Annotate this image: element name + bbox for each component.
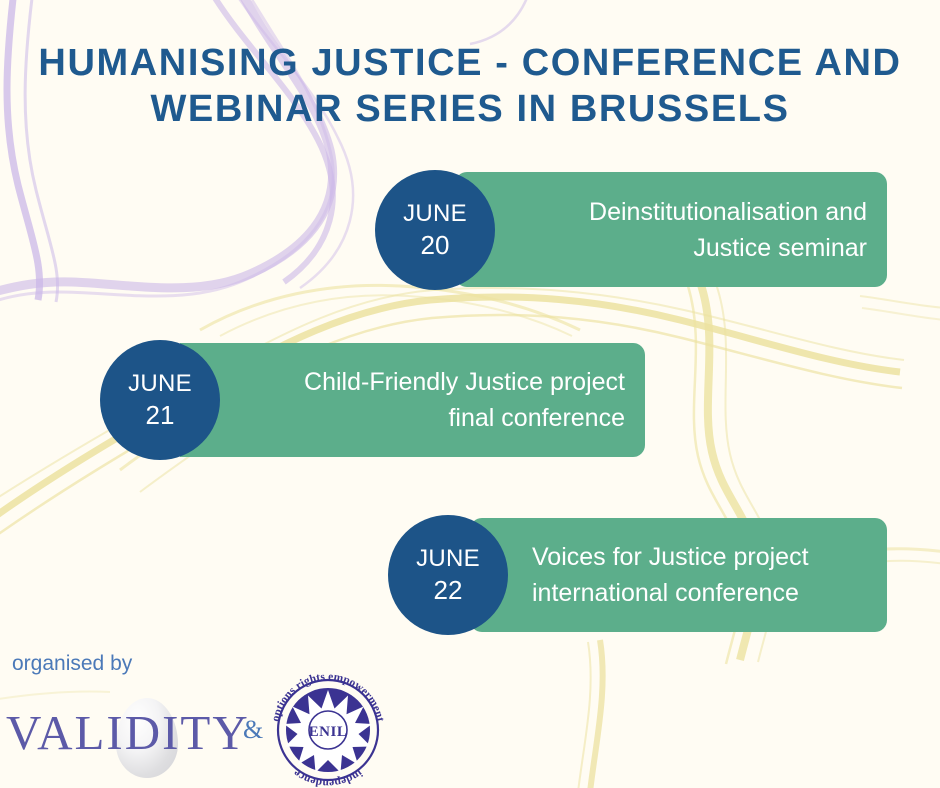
event-title-3-line-1: Voices for Justice project xyxy=(532,543,809,571)
enil-logo: ENIL options rights empowerment independ… xyxy=(262,668,394,788)
event-title-1-line-1: Deinstitutionalisation and xyxy=(589,198,867,226)
event-date-3[interactable]: JUNE 22 xyxy=(388,515,508,635)
event-date-1-month: JUNE xyxy=(403,199,467,229)
event-card-1[interactable]: Deinstitutionalisation and Justice semin… xyxy=(455,172,887,287)
event-date-2-month: JUNE xyxy=(128,369,192,399)
event-title-2-line-1: Child-Friendly Justice project xyxy=(304,368,625,396)
event-title-1: Deinstitutionalisation and Justice semin… xyxy=(525,194,867,266)
ampersand-separator: & xyxy=(243,715,263,745)
event-card-3[interactable]: Voices for Justice project international… xyxy=(470,518,887,632)
enil-center-text: ENIL xyxy=(309,724,348,740)
event-title-2-line-2: final conference xyxy=(448,404,625,432)
event-date-1[interactable]: JUNE 20 xyxy=(375,170,495,290)
organised-by-label: organised by xyxy=(12,652,132,676)
validity-logo: VALIDITY xyxy=(6,698,246,772)
event-card-2[interactable]: Child-Friendly Justice project final con… xyxy=(180,343,645,457)
event-date-1-day: 20 xyxy=(421,229,450,261)
event-title-1-line-2: Justice seminar xyxy=(693,234,867,262)
title-line-2: WEBINAR SERIES IN BRUSSELS xyxy=(0,86,940,132)
event-date-3-day: 22 xyxy=(434,574,463,606)
event-title-3-line-2: international conference xyxy=(532,579,799,607)
event-title-2: Child-Friendly Justice project final con… xyxy=(250,364,625,436)
title-line-1: HUMANISING JUSTICE - CONFERENCE AND xyxy=(0,40,940,86)
event-date-2-day: 21 xyxy=(146,399,175,431)
event-date-2[interactable]: JUNE 21 xyxy=(100,340,220,460)
page-title: HUMANISING JUSTICE - CONFERENCE AND WEBI… xyxy=(0,40,940,132)
event-date-3-month: JUNE xyxy=(416,544,480,574)
event-title-3: Voices for Justice project international… xyxy=(532,539,865,611)
poster-canvas: HUMANISING JUSTICE - CONFERENCE AND WEBI… xyxy=(0,0,940,788)
validity-wordmark: VALIDITY xyxy=(6,704,250,761)
